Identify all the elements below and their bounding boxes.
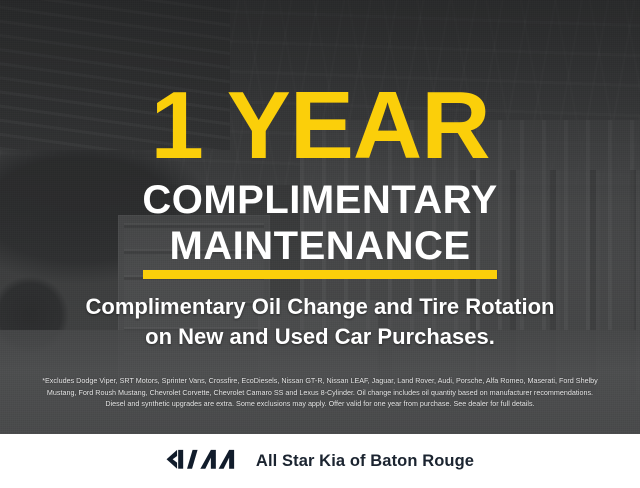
yellow-divider-bar — [143, 270, 497, 279]
subheadline-line-2: on New and Used Car Purchases. — [0, 322, 640, 352]
kia-logo-icon — [166, 448, 238, 475]
disclaimer-text: *Excludes Dodge Viper, SRT Motors, Sprin… — [14, 375, 626, 410]
headline-year: 1 YEAR — [0, 78, 640, 174]
subheadline-line-1: Complimentary Oil Change and Tire Rotati… — [0, 292, 640, 322]
disclaimer-line-2: Mustang, Ford Roush Mustang, Chevrolet C… — [14, 387, 626, 399]
dealer-name: All Star Kia of Baton Rouge — [256, 452, 474, 471]
headline-complimentary: COMPLIMENTARY — [0, 180, 640, 220]
disclaimer-line-3: Diesel and synthetic upgrades are extra.… — [14, 398, 626, 410]
dealer-footer: All Star Kia of Baton Rouge — [0, 434, 640, 488]
subheadline: Complimentary Oil Change and Tire Rotati… — [0, 292, 640, 351]
headline-maintenance: MAINTENANCE — [0, 226, 640, 266]
disclaimer-line-1: *Excludes Dodge Viper, SRT Motors, Sprin… — [14, 375, 626, 387]
banner-content: 1 YEAR COMPLIMENTARY MAINTENANCE Complim… — [0, 0, 640, 434]
promotional-banner: 1 YEAR COMPLIMENTARY MAINTENANCE Complim… — [0, 0, 640, 488]
